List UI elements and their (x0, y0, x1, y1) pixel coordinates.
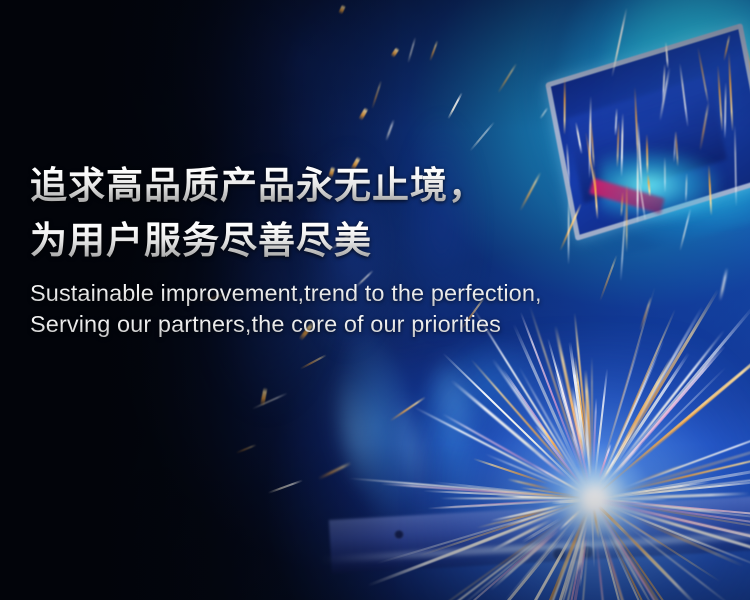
spark-streak (513, 528, 581, 600)
spark-streak (631, 484, 692, 494)
spark-streak (485, 454, 572, 491)
spark-streak (611, 442, 643, 478)
spark-streak (600, 499, 750, 518)
spark-streak (557, 524, 588, 600)
spark-streak (380, 483, 545, 496)
spark-streak (575, 121, 583, 154)
spark-streak (615, 441, 750, 494)
spark-streak (734, 125, 737, 207)
spark-streak (349, 478, 558, 497)
spark-streak (490, 506, 557, 522)
spark-streak (600, 515, 651, 600)
spark-streak (438, 499, 581, 510)
spark-streak (554, 325, 586, 462)
spark-streak (515, 529, 576, 600)
spark-streak (612, 481, 710, 497)
spark-streak (442, 353, 581, 488)
spark-streak (598, 443, 611, 478)
spark-streak (550, 499, 582, 504)
spark-streak (491, 519, 553, 553)
headline-english-line-1: Sustainable improvement,trend to the per… (30, 278, 730, 309)
spark-streak (697, 47, 709, 105)
spark-streak (615, 536, 686, 600)
spark-streak (407, 37, 416, 63)
spark-streak (571, 386, 587, 461)
spark-streak (632, 516, 744, 567)
spark-ember (390, 47, 400, 59)
spark-streak (602, 454, 619, 482)
spark-streak (473, 458, 548, 484)
spark-streak (608, 503, 750, 565)
spark-streak (593, 398, 598, 469)
spark-streak (517, 366, 587, 489)
spark-streak (659, 67, 670, 121)
spark-streak (422, 510, 576, 600)
spark-streak (613, 538, 692, 600)
spark-streak (617, 329, 725, 467)
spark-streak (574, 523, 587, 582)
spark-streak (699, 102, 710, 151)
welding-smoke (282, 318, 549, 561)
spark-streak (601, 374, 701, 489)
spark-streak (538, 533, 585, 600)
spark-streak (605, 500, 750, 530)
spark-streak (627, 502, 750, 521)
spark-streak (614, 357, 673, 460)
spark-streak (599, 371, 741, 492)
spark-streak (614, 352, 690, 465)
spark-streak (525, 538, 577, 600)
spark-streak (615, 108, 618, 136)
spark-streak (587, 386, 592, 475)
spark-streak (469, 121, 495, 151)
spark-streak (603, 421, 638, 478)
spark-streak (635, 86, 640, 162)
spark-streak (618, 509, 725, 553)
spark-streak (604, 520, 648, 589)
spark-streak (603, 336, 642, 460)
headline-copy-block: 追求高品质产品永无止境， 为用户服务尽善尽美 Sustainable impro… (30, 158, 730, 340)
headline-chinese-line-2: 为用户服务尽善尽美 (30, 213, 730, 268)
spark-streak (470, 359, 577, 481)
spark-streak (534, 452, 569, 481)
spark-streak (428, 499, 569, 509)
spark-streak (598, 505, 630, 537)
spark-streak (594, 368, 608, 476)
spark-streak (476, 509, 548, 529)
spark-streak (440, 498, 582, 500)
spark-streak (666, 41, 670, 68)
spark-streak (596, 357, 657, 489)
spark-streak (567, 383, 589, 481)
spark-streak (623, 532, 698, 600)
spark-streak (535, 426, 582, 486)
spark-streak (613, 344, 726, 475)
spark-streak (371, 80, 382, 109)
workpiece-bolt-hole (580, 546, 594, 558)
spark-streak (447, 92, 463, 119)
spark-streak (496, 495, 579, 499)
spark-streak (597, 506, 710, 600)
spark-streak (375, 504, 573, 565)
spark-streak (598, 509, 689, 600)
spark-streak (491, 358, 567, 464)
spark-streak (595, 511, 644, 600)
spark-streak (454, 529, 569, 600)
spark-streak (592, 508, 596, 567)
spark-streak (610, 464, 750, 498)
spark-streak (268, 479, 304, 494)
spark-streak (620, 492, 750, 500)
spark-streak (450, 380, 566, 478)
spark-streak (611, 7, 628, 77)
spark-streak (724, 81, 727, 138)
spark-streak (728, 52, 733, 132)
spark-streak (717, 65, 723, 132)
spark-streak (504, 508, 585, 600)
spark-streak (579, 535, 588, 588)
spark-streak (602, 532, 644, 600)
spark-streak (504, 507, 563, 527)
spark-streak (517, 526, 563, 568)
spark-streak (502, 369, 569, 466)
spark-streak (679, 63, 689, 127)
spark-streak (627, 526, 733, 600)
spark-streak (512, 496, 547, 498)
spark-streak (573, 356, 587, 457)
spark-streak (609, 535, 672, 600)
spark-streak (466, 489, 573, 498)
spark-streak (554, 359, 587, 473)
spark-streak (481, 490, 582, 499)
spark-streak (555, 513, 587, 586)
spark-streak (367, 511, 560, 587)
spark-streak (611, 501, 750, 533)
spark-streak (300, 354, 327, 370)
spark-streak (746, 46, 750, 123)
spark-streak (318, 462, 352, 480)
spark-streak (553, 371, 580, 458)
spark-streak (584, 370, 591, 458)
spark-streak (622, 427, 750, 488)
spark-streak (593, 509, 600, 540)
spark-streak (520, 487, 574, 497)
spark-streak (489, 529, 559, 592)
spark-streak (518, 524, 579, 600)
spark-streak (610, 518, 677, 586)
spark-streak (429, 40, 438, 61)
spark-streak (570, 433, 583, 469)
spark-streak (663, 64, 666, 102)
spark-streak (442, 414, 567, 485)
spark-streak (557, 512, 589, 600)
spark-streak (531, 464, 583, 494)
headline-chinese-line-1: 追求高品质产品永无止境， (30, 158, 730, 213)
welding-arc-core (530, 440, 660, 560)
spark-streak (635, 508, 750, 546)
spark-ember (260, 387, 268, 406)
welding-arc-halo (420, 340, 750, 600)
spark-streak (596, 543, 606, 600)
workpiece-bolt-hole (394, 530, 404, 539)
spark-streak (606, 508, 664, 547)
spark-streak (511, 504, 566, 517)
spark-streak (497, 62, 517, 93)
spark-streak (530, 534, 583, 600)
spark-streak (577, 539, 586, 572)
spark-streak (577, 424, 584, 453)
spark-streak (600, 532, 628, 600)
spark-streak (615, 498, 668, 500)
spark-streak (423, 490, 548, 497)
spark-streak (385, 119, 395, 141)
spark-streak (607, 508, 720, 582)
headline-english: Sustainable improvement,trend to the per… (30, 278, 730, 340)
spark-streak (537, 420, 566, 461)
spark-streak (432, 481, 559, 496)
spark-streak (506, 478, 551, 490)
spark-streak (521, 517, 562, 543)
workpiece-bolt-hole (552, 548, 566, 560)
spark-streak (624, 454, 750, 492)
spark-streak (618, 471, 750, 496)
spark-streak (389, 396, 426, 422)
spark-streak (252, 392, 288, 410)
spark-streak (564, 77, 566, 135)
spark-streak (600, 500, 750, 548)
workpiece-highlight-edge (320, 532, 750, 564)
spark-streak (607, 499, 647, 503)
spark-streak (453, 521, 566, 600)
spark-streak (457, 513, 574, 600)
metal-workpiece (329, 496, 750, 574)
welding-hero-banner: 追求高品质产品永无止境， 为用户服务尽善尽美 Sustainable impro… (0, 0, 750, 600)
spark-streak (584, 401, 591, 477)
headline-chinese: 追求高品质产品永无止境， 为用户服务尽善尽美 (30, 158, 730, 268)
spark-streak (539, 106, 549, 119)
spark-streak (416, 522, 562, 600)
spark-streak (584, 423, 591, 477)
spark-streak (634, 463, 686, 484)
spark-streak (617, 366, 726, 474)
spark-streak (512, 323, 578, 467)
spark-streak (564, 512, 589, 583)
spark-streak (604, 503, 750, 572)
spark-streak (515, 393, 576, 476)
spark-streak (414, 406, 566, 486)
welding-glove-fabric (234, 308, 597, 600)
spark-streak (601, 480, 750, 499)
spark-streak (562, 536, 588, 600)
spark-streak (723, 34, 731, 61)
spark-streak (617, 343, 714, 466)
spark-streak (574, 532, 590, 600)
spark-streak (604, 527, 694, 600)
spark-streak (632, 502, 726, 513)
headline-english-line-2: Serving our partners,the core of our pri… (30, 309, 730, 340)
spark-streak (591, 357, 593, 460)
spark-streak (558, 509, 581, 531)
spark-streak (420, 502, 579, 556)
spark-streak (623, 338, 750, 473)
spark-streak (496, 509, 552, 525)
spark-streak (236, 444, 257, 454)
spark-streak (547, 338, 582, 460)
spark-streak (569, 341, 588, 458)
spark-ember (338, 4, 346, 15)
spark-ember (358, 107, 369, 121)
spark-streak (608, 339, 665, 463)
spark-streak (445, 505, 574, 557)
